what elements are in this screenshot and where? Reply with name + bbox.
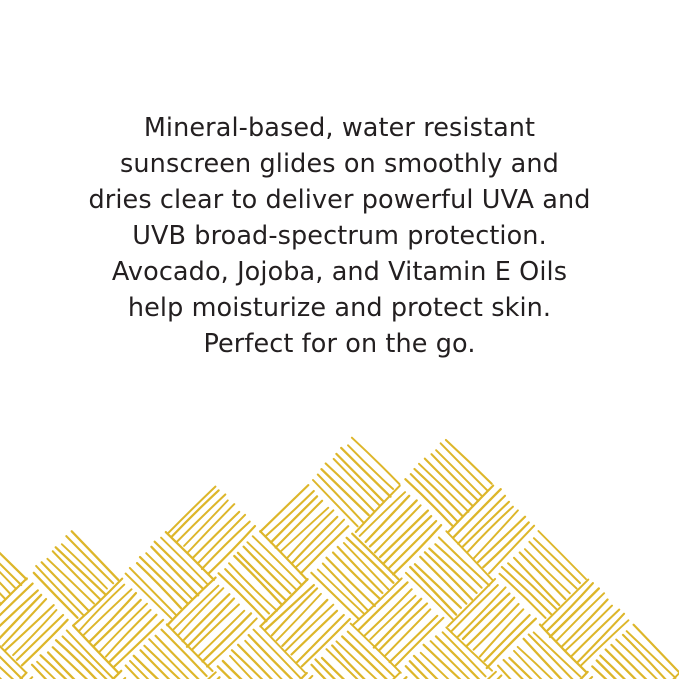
description-line-7: Perfect for on the go. [0,326,679,362]
description-line-4: UVB broad-spectrum protection. [0,218,679,254]
description-text-block: Mineral-based, water resistant sunscreen… [0,110,679,362]
description-line-2: sunscreen glides on smoothly and [0,146,679,182]
description-line-5: Avocado, Jojoba, and Vitamin E Oils [0,254,679,290]
description-line-6: help moisturize and protect skin. [0,290,679,326]
description-line-3: dries clear to deliver powerful UVA and [0,182,679,218]
product-description-card: Mineral-based, water resistant sunscreen… [0,0,679,679]
hatch-tile-group [0,438,679,679]
description-line-1: Mineral-based, water resistant [0,110,679,146]
